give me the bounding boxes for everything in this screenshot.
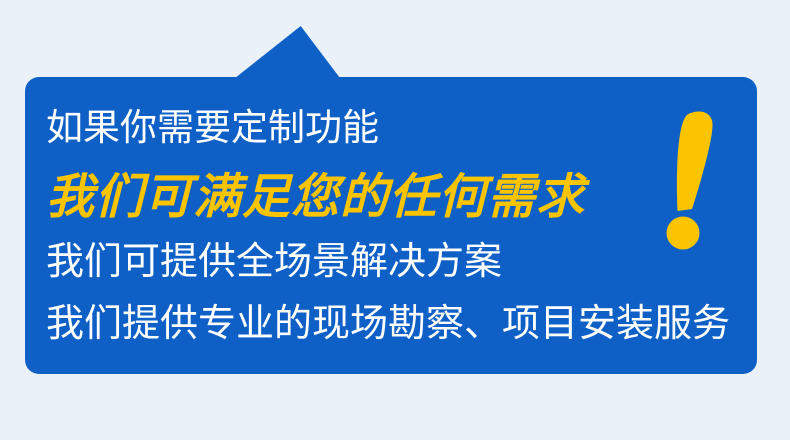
banner-copy-block: 如果你需要定制功能 我们可满足您的任何需求 我们可提供全场景解决方案 我们提供专… xyxy=(46,106,726,347)
banner-canvas: 如果你需要定制功能 我们可满足您的任何需求 我们可提供全场景解决方案 我们提供专… xyxy=(0,0,790,440)
banner-line-detail-2: 我们提供专业的现场勘察、项目安装服务 xyxy=(46,301,726,347)
speech-bubble-card: 如果你需要定制功能 我们可满足您的任何需求 我们可提供全场景解决方案 我们提供专… xyxy=(25,77,757,374)
exclamation-mark-icon xyxy=(655,105,735,255)
banner-line-intro: 如果你需要定制功能 xyxy=(46,106,726,150)
banner-line-headline: 我们可满足您的任何需求 xyxy=(46,171,726,225)
banner-line-detail-1: 我们可提供全场景解决方案 xyxy=(46,239,726,285)
speech-bubble-tail-icon xyxy=(200,26,350,82)
